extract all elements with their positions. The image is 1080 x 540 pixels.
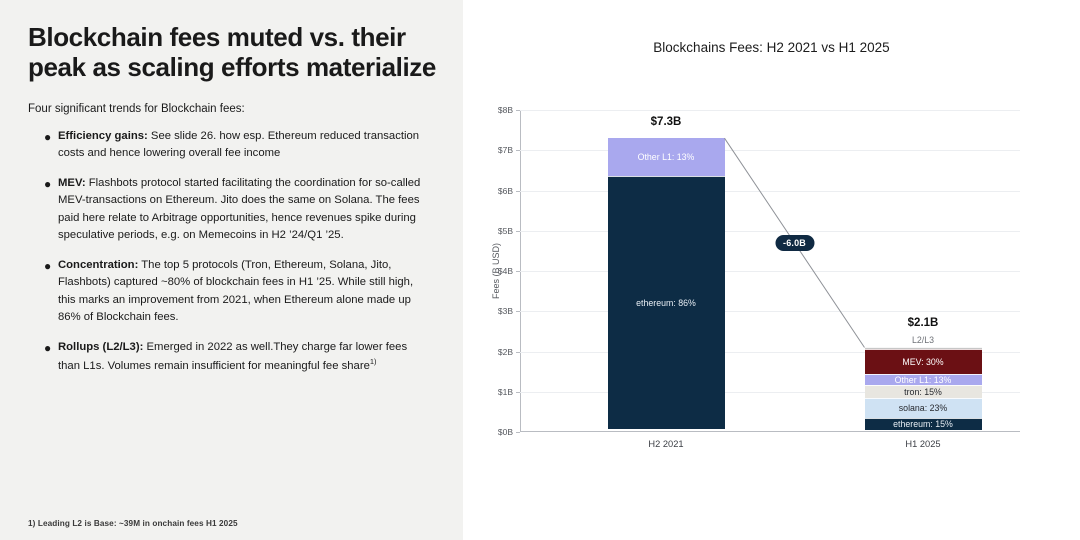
chart-panel: Blockchains Fees: H2 2021 vs H1 2025 Fee… bbox=[463, 0, 1080, 540]
segment-label: MEV: 30% bbox=[902, 357, 943, 367]
gridline bbox=[520, 150, 1020, 151]
y-tick-mark bbox=[516, 271, 520, 272]
bar-segment-ethereum[interactable]: ethereum: 86% bbox=[608, 176, 725, 429]
gridline bbox=[520, 231, 1020, 232]
segment-label-outside: L2/L3 bbox=[912, 335, 934, 345]
list-item-text: Efficiency gains: See slide 26. how esp.… bbox=[58, 128, 437, 163]
list-item-lead: Concentration: bbox=[58, 259, 138, 271]
bullet-dot-icon: ● bbox=[28, 257, 58, 327]
bar-segment-ethereum[interactable]: ethereum: 15% bbox=[865, 418, 982, 431]
y-tick-mark bbox=[516, 191, 520, 192]
list-item-lead: MEV: bbox=[58, 177, 86, 189]
list-item-text: MEV: Flashbots protocol started facilita… bbox=[58, 175, 437, 245]
bullet-dot-icon: ● bbox=[28, 175, 58, 245]
list-item-lead: Rollups (L2/L3): bbox=[58, 341, 143, 353]
x-tick-label: H2 2021 bbox=[648, 439, 683, 449]
plot-area: Fees (B USD) $0B$1B$2B$3B$4B$5B$6B$7B$8B… bbox=[520, 110, 1020, 432]
delta-badge: -6.0B bbox=[775, 235, 814, 251]
y-tick-mark bbox=[516, 231, 520, 232]
y-tick-label: $6B bbox=[498, 186, 513, 196]
bar-segment-other-l1[interactable]: Other L1: 13% bbox=[608, 138, 725, 176]
bar-h2-2021[interactable]: Other L1: 13%ethereum: 86%$7.3B bbox=[608, 138, 725, 432]
intro-text: Four significant trends for Blockchain f… bbox=[28, 101, 437, 117]
segment-label: tron: 15% bbox=[904, 387, 942, 397]
list-item: ●Efficiency gains: See slide 26. how esp… bbox=[28, 128, 437, 163]
bar-segment-mev[interactable]: MEV: 30% bbox=[865, 349, 982, 374]
segment-label: Other L1: 13% bbox=[638, 152, 695, 162]
y-tick-label: $7B bbox=[498, 145, 513, 155]
gridline bbox=[520, 191, 1020, 192]
gridline bbox=[520, 271, 1020, 272]
footnote-marker: 1) bbox=[370, 357, 377, 366]
bar-segment-solana[interactable]: solana: 23% bbox=[865, 398, 982, 417]
x-tick-label: H1 2025 bbox=[905, 439, 940, 449]
gridline bbox=[520, 110, 1020, 111]
list-item-body: Flashbots protocol started facilitating … bbox=[58, 177, 420, 242]
y-tick-label: $0B bbox=[498, 427, 513, 437]
y-tick-label: $8B bbox=[498, 105, 513, 115]
y-tick-mark bbox=[516, 311, 520, 312]
segment-label: solana: 23% bbox=[899, 403, 947, 413]
bar-segment-tron[interactable]: tron: 15% bbox=[865, 385, 982, 398]
list-item: ●Concentration: The top 5 protocols (Tro… bbox=[28, 257, 437, 327]
segment-label: ethereum: 86% bbox=[636, 298, 696, 308]
list-item-text: Rollups (L2/L3): Emerged in 2022 as well… bbox=[58, 339, 437, 376]
y-tick-label: $5B bbox=[498, 226, 513, 236]
bar-segment-other-l1[interactable]: Other L1: 13% bbox=[865, 374, 982, 385]
y-tick-mark bbox=[516, 352, 520, 353]
bullet-dot-icon: ● bbox=[28, 128, 58, 163]
gridline bbox=[520, 311, 1020, 312]
bullet-dot-icon: ● bbox=[28, 339, 58, 376]
page-title: Blockchain fees muted vs. their peak as … bbox=[28, 22, 437, 83]
chart-title: Blockchains Fees: H2 2021 vs H1 2025 bbox=[463, 40, 1080, 55]
text-panel: Blockchain fees muted vs. their peak as … bbox=[0, 0, 463, 540]
y-tick-label: $2B bbox=[498, 347, 513, 357]
bar-total-label: $2.1B bbox=[908, 317, 939, 329]
trends-list: ●Efficiency gains: See slide 26. how esp… bbox=[28, 128, 437, 376]
y-tick-mark bbox=[516, 392, 520, 393]
list-item-text: Concentration: The top 5 protocols (Tron… bbox=[58, 257, 437, 327]
y-tick-label: $3B bbox=[498, 306, 513, 316]
y-tick-mark bbox=[516, 432, 520, 433]
list-item: ●Rollups (L2/L3): Emerged in 2022 as wel… bbox=[28, 339, 437, 376]
slide: Blockchain fees muted vs. their peak as … bbox=[0, 0, 1080, 540]
y-tick-label: $1B bbox=[498, 387, 513, 397]
bar-h1-2025[interactable]: L2/L3MEV: 30%Other L1: 13%tron: 15%solan… bbox=[865, 347, 982, 432]
bar-total-label: $7.3B bbox=[651, 116, 682, 128]
list-item-lead: Efficiency gains: bbox=[58, 130, 148, 142]
footnote: 1) Leading L2 is Base: ~39M in onchain f… bbox=[28, 519, 238, 528]
segment-label: Other L1: 13% bbox=[895, 375, 952, 385]
list-item: ●MEV: Flashbots protocol started facilit… bbox=[28, 175, 437, 245]
segment-label: ethereum: 15% bbox=[893, 419, 953, 429]
y-tick-mark bbox=[516, 150, 520, 151]
y-tick-mark bbox=[516, 110, 520, 111]
y-tick-label: $4B bbox=[498, 266, 513, 276]
